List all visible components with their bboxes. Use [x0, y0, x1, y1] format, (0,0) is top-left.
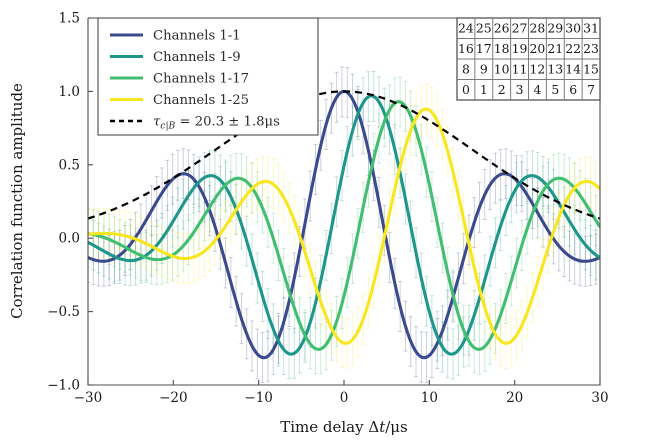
table-cell: 10 — [494, 62, 510, 77]
table-cell: 22 — [565, 41, 581, 56]
table-cell: 17 — [476, 41, 492, 56]
table-cell: 9 — [480, 62, 488, 77]
table-cell: 11 — [512, 62, 528, 77]
series-curve — [88, 102, 599, 350]
series-curve — [88, 109, 599, 343]
x-tick-label: −20 — [159, 390, 188, 406]
legend: Channels 1-1Channels 1-9Channels 1-17Cha… — [98, 18, 318, 135]
x-tick-label: −10 — [244, 390, 273, 406]
legend-label: Channels 1-17 — [153, 72, 249, 87]
table-cell: 16 — [458, 41, 474, 56]
figure-container: −30−20−100102030 −1.0−0.50.00.51.01.5 Ti… — [0, 0, 664, 443]
table-cell: 13 — [547, 62, 563, 77]
y-tick-label: −0.5 — [47, 304, 80, 320]
y-tick-label: 0.0 — [59, 231, 80, 247]
y-axis-title-group: Correlation function amplitude — [8, 83, 26, 319]
x-tick-label: 30 — [591, 390, 608, 406]
legend-label: Channels 1-25 — [153, 93, 249, 108]
table-cell: 8 — [462, 62, 470, 77]
table-cell: 7 — [587, 82, 595, 97]
table-cell: 5 — [551, 82, 559, 97]
legend-label: Channels 1-1 — [153, 29, 241, 44]
table-cell: 15 — [583, 62, 599, 77]
legend-label: Channels 1-9 — [153, 50, 241, 65]
table-cell: 21 — [547, 41, 563, 56]
table-cell: 19 — [512, 41, 528, 56]
table-cell: 26 — [494, 21, 510, 36]
y-tick-label: 0.5 — [59, 157, 80, 173]
table-cell: 29 — [547, 21, 563, 36]
table-cell: 14 — [565, 62, 581, 77]
table-cell: 2 — [498, 82, 506, 97]
table-cell: 18 — [494, 41, 510, 56]
table-cell: 25 — [476, 21, 492, 36]
y-tick-label: 1.0 — [59, 84, 80, 100]
table-cell: 1 — [480, 82, 488, 97]
table-cell: 3 — [516, 82, 524, 97]
y-tick-label: 1.5 — [59, 11, 80, 27]
correlation-plot: −30−20−100102030 −1.0−0.50.00.51.01.5 Ti… — [0, 0, 664, 443]
table-cell: 28 — [530, 21, 546, 36]
table-cell: 27 — [512, 21, 528, 36]
table-cell: 30 — [565, 21, 581, 36]
table-cell: 24 — [458, 21, 474, 36]
x-axis-ticks: −30−20−100102030 — [74, 380, 609, 406]
table-cell: 20 — [530, 41, 546, 56]
x-axis-title-group: Time delay Δt/μs — [280, 418, 408, 436]
table-cell: 23 — [583, 41, 599, 56]
y-axis-title: Correlation function amplitude — [8, 83, 26, 319]
x-tick-label: 0 — [340, 390, 349, 406]
y-tick-label: −1.0 — [47, 378, 80, 394]
channel-map-table: 2425262728293031161718192021222389101112… — [457, 18, 600, 100]
x-tick-label: 10 — [421, 390, 438, 406]
table-cell: 12 — [530, 62, 546, 77]
x-axis-title: Time delay Δt/μs — [280, 418, 408, 436]
table-cell: 31 — [583, 21, 599, 36]
table-cell: 6 — [569, 82, 577, 97]
table-cell: 0 — [462, 82, 470, 97]
x-tick-label: 20 — [506, 390, 523, 406]
table-cell: 4 — [533, 82, 541, 97]
y-axis-ticks: −1.0−0.50.00.51.01.5 — [47, 11, 93, 394]
